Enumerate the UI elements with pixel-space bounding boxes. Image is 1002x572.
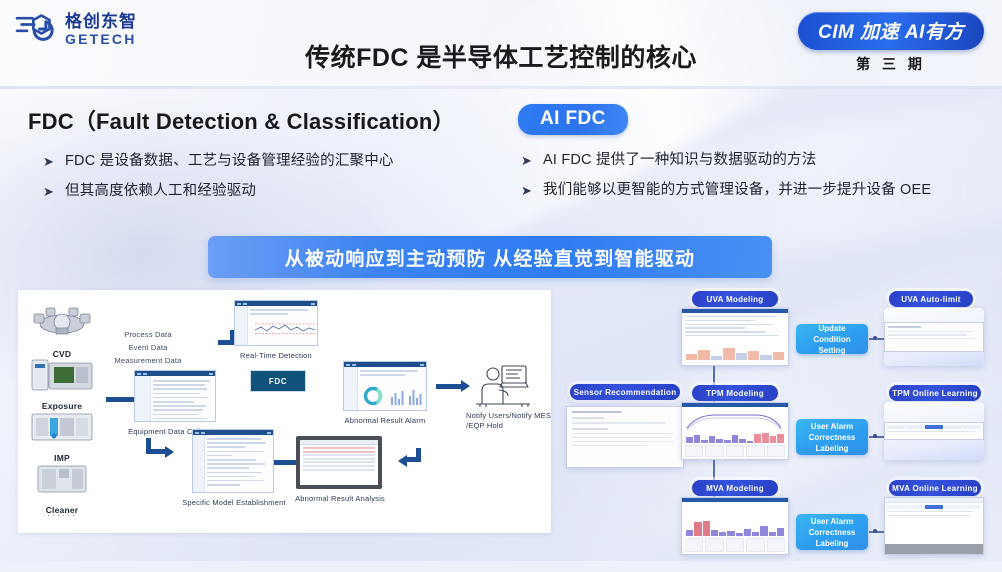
arrow-alarm-to-notify <box>436 380 476 392</box>
pill-uva-auto-limit: UVA Auto-limit <box>889 291 973 307</box>
data-type-label: Event Data <box>88 341 208 354</box>
card-uva-auto-limit <box>884 308 984 366</box>
pill-mva-online-learning: MVA Online Learning <box>889 480 981 496</box>
tagline-text: 从被动响应到主动预防 从经验直觉到智能驱动 <box>285 244 695 271</box>
list-item: ➤ AI FDC 提供了一种知识与数据驱动的方法 <box>520 151 988 170</box>
notify-line-1: Notify Users/Notify MES <box>466 411 552 420</box>
data-type-label: Measurement Data <box>88 354 208 367</box>
card-mva-modeling <box>681 497 789 555</box>
screen-caption: Specific Model Establishment <box>178 498 290 507</box>
bullet-text: AI FDC 提供了一种知识与数据驱动的方法 <box>543 151 816 170</box>
list-item: ➤ 我们能够以更智能的方式管理设备，并进一步提升设备 OEE <box>520 181 988 200</box>
left-column: FDC（Fault Detection & Classification） ➤ … <box>28 104 498 212</box>
card-uva-modeling <box>681 308 789 366</box>
notify-line-2: /EQP Hold <box>466 421 552 430</box>
screenshot-thumbnail <box>234 300 318 346</box>
action-user-alarm-labeling-mva: User Alarm Correctness Labeling <box>796 514 868 550</box>
pill-tpm-modeling: TPM Modeling <box>692 385 778 401</box>
screenshot-thumbnail <box>192 429 274 493</box>
card-mva-online-learning <box>884 497 984 555</box>
implanter-icon <box>28 406 96 446</box>
cvd-chamber-icon <box>28 302 96 342</box>
screen-caption: Abnormal Result Analysis <box>288 494 392 503</box>
bullet-text: 我们能够以更智能的方式管理设备，并进一步提升设备 OEE <box>543 181 931 200</box>
action-user-alarm-labeling-tpm: User Alarm Correctness Labeling <box>796 419 868 455</box>
chevron-right-icon: ➤ <box>42 152 55 171</box>
chevron-right-icon: ➤ <box>520 181 533 200</box>
action-update-condition-setting: Update Condition Setting <box>796 324 868 354</box>
right-bullet-list: ➤ AI FDC 提供了一种知识与数据驱动的方法 ➤ 我们能够以更智能的方式管理… <box>518 151 988 200</box>
left-column-heading: FDC（Fault Detection & Classification） <box>28 104 498 136</box>
equipment-more-dots: ······ <box>26 510 98 520</box>
series-badge: CIM 加速 AI有方 第 三 期 <box>788 12 994 74</box>
tagline-banner: 从被动响应到主动预防 从经验直觉到智能驱动 <box>208 236 772 278</box>
card-tpm-online-learning <box>884 402 984 460</box>
bullet-text: 但其高度依赖人工和经验驱动 <box>65 182 256 201</box>
screen-caption: Abnormal Result Alarm <box>330 416 440 425</box>
connector-node <box>873 529 877 533</box>
card-tpm-modeling <box>681 402 789 460</box>
list-item: ➤ FDC 是设备数据、工艺与设备管理经验的汇聚中心 <box>42 152 498 171</box>
pill-mva-modeling: MVA Modeling <box>692 480 778 496</box>
header-divider <box>0 86 1002 89</box>
pill-sensor-recommendation: Sensor Recommendation <box>570 384 680 400</box>
arrow-elbow-left-down <box>146 438 172 462</box>
card-sensor-recommendation <box>566 406 684 468</box>
pill-tpm-online-learning: TPM Online Learning <box>889 385 981 401</box>
equipment-item-imp: IMP <box>26 406 98 463</box>
pill-uva-modeling: UVA Modeling <box>692 291 778 307</box>
screenshot-thumbnail <box>134 370 216 422</box>
diagram-area: CVD Exposure IMP Cleaner · <box>0 288 1002 561</box>
fdc-core-box: FDC <box>250 370 306 392</box>
chevron-right-icon: ➤ <box>520 151 533 170</box>
chevron-right-icon: ➤ <box>42 182 55 201</box>
data-type-label: Process Data <box>88 328 208 341</box>
cleaner-tool-icon <box>28 458 96 498</box>
equipment-item-cleaner: Cleaner <box>26 458 98 515</box>
engineer-at-desk-icon <box>472 360 534 408</box>
screen-caption: Real-Time Detection <box>226 351 326 360</box>
arrow-elbow-down-left <box>404 448 428 470</box>
screenshot-thumbnail <box>343 361 427 411</box>
connector-node <box>873 434 877 438</box>
series-badge-title: CIM 加速 AI有方 <box>798 12 984 50</box>
monitor-bezel <box>296 436 382 489</box>
bullet-text: FDC 是设备数据、工艺与设备管理经验的汇聚中心 <box>65 152 394 171</box>
right-column: AI FDC ➤ AI FDC 提供了一种知识与数据驱动的方法 ➤ 我们能够以更… <box>518 104 988 211</box>
left-bullet-list: ➤ FDC 是设备数据、工艺与设备管理经验的汇聚中心 ➤ 但其高度依赖人工和经验… <box>28 152 498 201</box>
right-column-heading: AI FDC <box>518 104 628 135</box>
logo-text-cn: 格创东智 <box>65 13 137 30</box>
connector-node <box>873 336 877 340</box>
list-item: ➤ 但其高度依赖人工和经验驱动 <box>42 182 498 201</box>
series-badge-episode: 第 三 期 <box>788 54 994 74</box>
exposure-tool-icon <box>28 354 96 394</box>
